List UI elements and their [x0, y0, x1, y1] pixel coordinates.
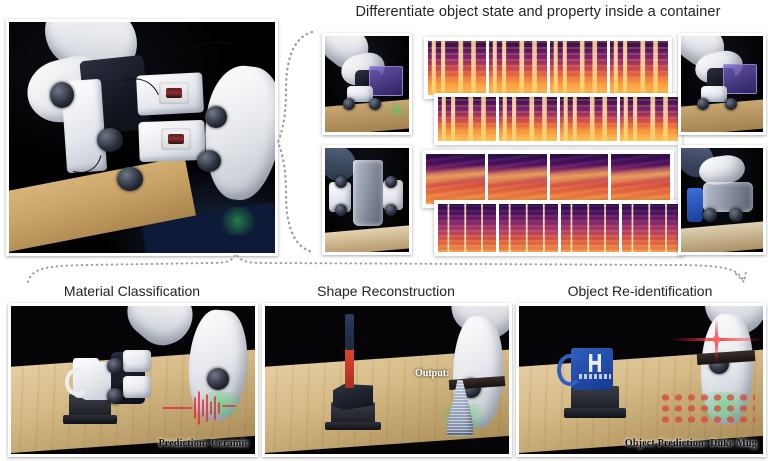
reid-photo-canvas: Object Prediction: Duke Mug: [519, 306, 763, 454]
joint-hub-3: [385, 176, 397, 188]
thumb-property-left-photo: [325, 148, 409, 252]
purple-container: [723, 64, 757, 94]
left-curly-brace-icon: [276, 28, 318, 256]
tactile-sensor-lower: [161, 128, 191, 150]
panel-shape-reconstruction-image: Output:: [262, 303, 512, 457]
object-pedestal: [571, 386, 619, 414]
blue-bottle: [687, 188, 703, 222]
joint-hub: [335, 176, 347, 188]
table-surface: [681, 99, 763, 132]
shape-photo-canvas: Output:: [265, 306, 509, 454]
wrist-hub: [207, 368, 229, 390]
panel-title-shape-reconstruction: Shape Reconstruction: [262, 283, 510, 299]
thumb-state-left-photo: [325, 36, 409, 132]
spectrogram-tile: [561, 204, 619, 252]
mug-handle: [65, 368, 89, 396]
gripper-joint-hub-d: [197, 150, 221, 172]
bottom-brace-icon: [24, 252, 750, 286]
hammer-handle-upper: [345, 314, 354, 350]
gripper-finger-upper: [123, 350, 151, 372]
left-curly-brace: [276, 28, 318, 256]
spectrogram-row-property-b: [434, 200, 684, 256]
duke-wordmark: [579, 374, 611, 379]
thumb-property-right-photo: [681, 148, 763, 252]
spectrogram-tile: [438, 204, 496, 252]
joint-hub: [703, 208, 717, 222]
panel-title-material-classification: Material Classification: [8, 283, 256, 299]
spectrogram-tile: [499, 204, 557, 252]
top-section-title: Differentiate object state and property …: [318, 4, 758, 20]
object-prediction-caption: Object Prediction: Duke Mug: [625, 438, 757, 449]
joint-hub: [697, 98, 709, 110]
thumb-state-right-photo: [681, 36, 763, 132]
gripper-joint-hub-c: [117, 167, 143, 191]
spectrogram-tile: [426, 154, 485, 204]
joint-hub-4: [385, 204, 397, 216]
panel-title-object-re-identification: Object Re-identification: [516, 283, 764, 299]
gripper-joint-hub-a: [50, 82, 74, 108]
spectrogram-tile: [611, 154, 670, 204]
mug-handle: [557, 354, 583, 386]
thumb-property-right: [678, 145, 766, 255]
glass-jar: [353, 160, 383, 226]
joint-hub-2: [725, 98, 737, 110]
green-led-glow: [387, 103, 405, 116]
material-photo-canvas: Prediction: Ceramic: [11, 306, 255, 454]
joint-hub-b: [107, 388, 123, 404]
audio-waveform-overlay: [161, 390, 237, 426]
purple-container: [369, 66, 403, 96]
spectrogram-row-state-a: [424, 37, 672, 99]
material-prediction-caption: Prediction: Ceramic: [158, 438, 249, 449]
joint-hub-a: [107, 358, 123, 374]
spectrogram-tile: [489, 41, 547, 95]
thumb-state-right: [678, 33, 766, 135]
hero-photo-canvas: [9, 22, 275, 253]
joint-hub: [343, 98, 355, 110]
green-led-glow: [217, 207, 260, 235]
panel-object-reidentification-image: Object Prediction: Duke Mug: [516, 303, 766, 457]
gripper-finger-lower: [123, 376, 151, 398]
spectrogram-tile: [550, 154, 609, 204]
laser-crosshair-icon: [671, 318, 763, 362]
joint-hub-2: [335, 204, 347, 216]
spectrogram-tile: [610, 41, 668, 95]
spectrogram-tile: [428, 41, 486, 95]
spectrogram-row-state-b: [434, 93, 682, 145]
bottom-horizontal-brace: [24, 252, 750, 286]
spectrogram-tile: [620, 97, 678, 141]
hero-robot-gripper-image: [6, 19, 278, 256]
spectrogram-tile: [488, 154, 547, 204]
spectrogram-tile: [560, 97, 618, 141]
joint-hub-2: [369, 98, 381, 110]
laser-dot-pattern: [659, 392, 755, 426]
panel-material-classification-image: Prediction: Ceramic: [8, 303, 258, 457]
hammer-head: [333, 384, 373, 410]
spectrogram-tile: [622, 204, 680, 252]
table-surface: [681, 221, 763, 252]
spectrogram-tile: [438, 97, 496, 141]
spectrogram-tile: [550, 41, 608, 95]
hammer-handle-lower: [345, 348, 354, 388]
figure-root: Differentiate object state and property …: [0, 0, 768, 461]
thumb-property-left: [322, 145, 412, 255]
thumb-state-left: [322, 33, 412, 135]
shape-output-label: Output:: [415, 368, 449, 379]
spectrogram-tile: [499, 97, 557, 141]
joint-hub-2: [729, 208, 743, 222]
table-surface: [325, 225, 409, 252]
